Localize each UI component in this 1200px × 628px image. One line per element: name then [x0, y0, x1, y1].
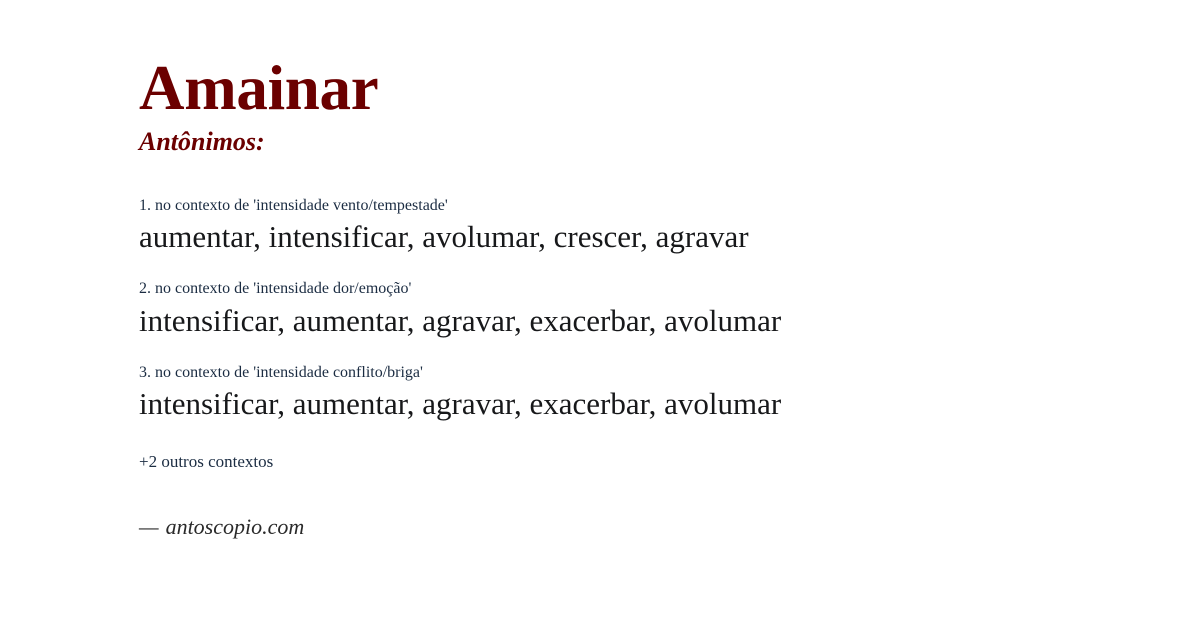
page-title: Amainar	[139, 57, 1200, 120]
list-item: 3. no contexto de 'intensidade conflito/…	[139, 364, 1200, 422]
sense-context-label: 3. no contexto de 'intensidade conflito/…	[139, 364, 1200, 382]
sense-antonym-terms: aumentar, intensificar, avolumar, cresce…	[139, 219, 1200, 255]
section-label-antonyms: Antônimos:	[139, 129, 1200, 155]
source-domain: antoscopio.com	[166, 514, 305, 539]
card-header: Amainar Antônimos:	[139, 0, 1200, 155]
list-item: 2. no contexto de 'intensidade dor/emoçã…	[139, 280, 1200, 338]
sense-context-label: 2. no contexto de 'intensidade dor/emoçã…	[139, 280, 1200, 298]
sense-antonym-terms: intensificar, aumentar, agravar, exacerb…	[139, 303, 1200, 339]
antonyms-card: Amainar Antônimos: 1. no contexto de 'in…	[0, 0, 1200, 628]
source-attribution: —antoscopio.com	[139, 514, 1200, 540]
more-contexts-note: +2 outros contextos	[139, 452, 1200, 472]
em-dash-glyph: —	[139, 514, 159, 539]
sense-list: 1. no contexto de 'intensidade vento/tem…	[139, 197, 1200, 422]
list-item: 1. no contexto de 'intensidade vento/tem…	[139, 197, 1200, 255]
sense-context-label: 1. no contexto de 'intensidade vento/tem…	[139, 197, 1200, 215]
sense-antonym-terms: intensificar, aumentar, agravar, exacerb…	[139, 386, 1200, 422]
